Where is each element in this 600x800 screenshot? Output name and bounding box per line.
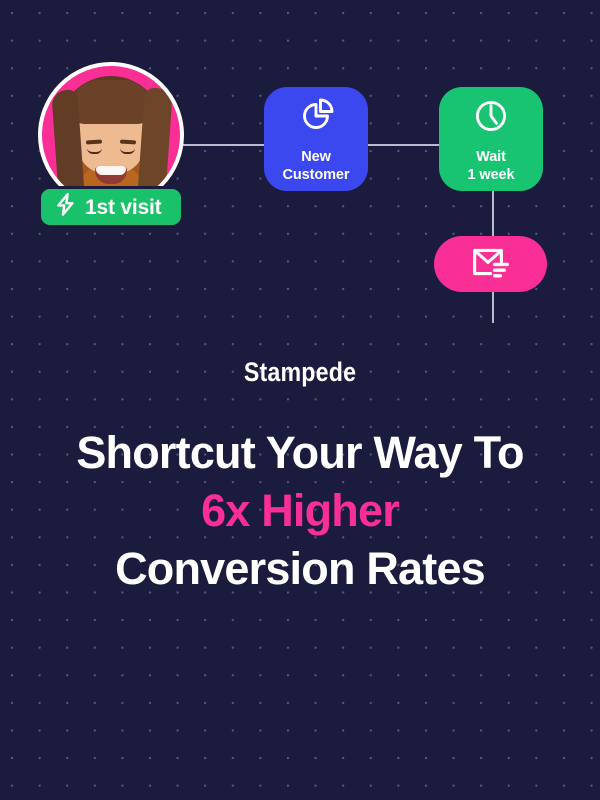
flow-node-label: Wait 1 week <box>468 149 515 184</box>
flow-node-label-line1: Wait <box>476 149 506 165</box>
status-badge-first-visit[interactable]: 1st visit <box>38 186 184 228</box>
headline-line-1: Shortcut Your Way To <box>0 424 600 482</box>
avatar-eye-right <box>120 148 135 154</box>
flow-node-label: New Customer <box>283 149 350 184</box>
flow-node-label-line2: Customer <box>283 167 350 183</box>
avatar-brow-left <box>86 139 102 144</box>
headline-line-3: Conversion Rates <box>0 540 600 598</box>
brand-name: Stampede <box>42 357 558 388</box>
avatar-brow-right <box>120 139 136 144</box>
connector-new-customer-to-wait <box>364 144 446 146</box>
headline-accent: 6x Higher <box>0 482 600 540</box>
avatar-hair-top <box>70 80 152 124</box>
flow-node-label-line1: New <box>301 149 331 165</box>
pie-chart-icon <box>294 94 338 143</box>
connector-wait-to-email <box>492 186 494 238</box>
clock-icon <box>469 94 513 143</box>
page-title: Shortcut Your Way To 6x Higher Conversio… <box>0 424 600 598</box>
poster-canvas: 1st visit New Customer Wait 1 week <box>0 0 600 800</box>
avatar-eye-left <box>87 148 102 154</box>
flow-node-new-customer[interactable]: New Customer <box>264 87 368 191</box>
status-badge-label: 1st visit <box>85 197 161 218</box>
flow-node-label-line2: 1 week <box>468 167 515 183</box>
connector-email-trailing <box>492 288 494 323</box>
email-envelope-icon <box>470 243 512 286</box>
connector-avatar-to-new-customer <box>178 144 270 146</box>
flow-node-send-email[interactable] <box>434 236 547 292</box>
lightning-bolt-icon <box>55 192 76 222</box>
flow-node-wait[interactable]: Wait 1 week <box>439 87 543 191</box>
avatar-teeth <box>96 166 126 175</box>
